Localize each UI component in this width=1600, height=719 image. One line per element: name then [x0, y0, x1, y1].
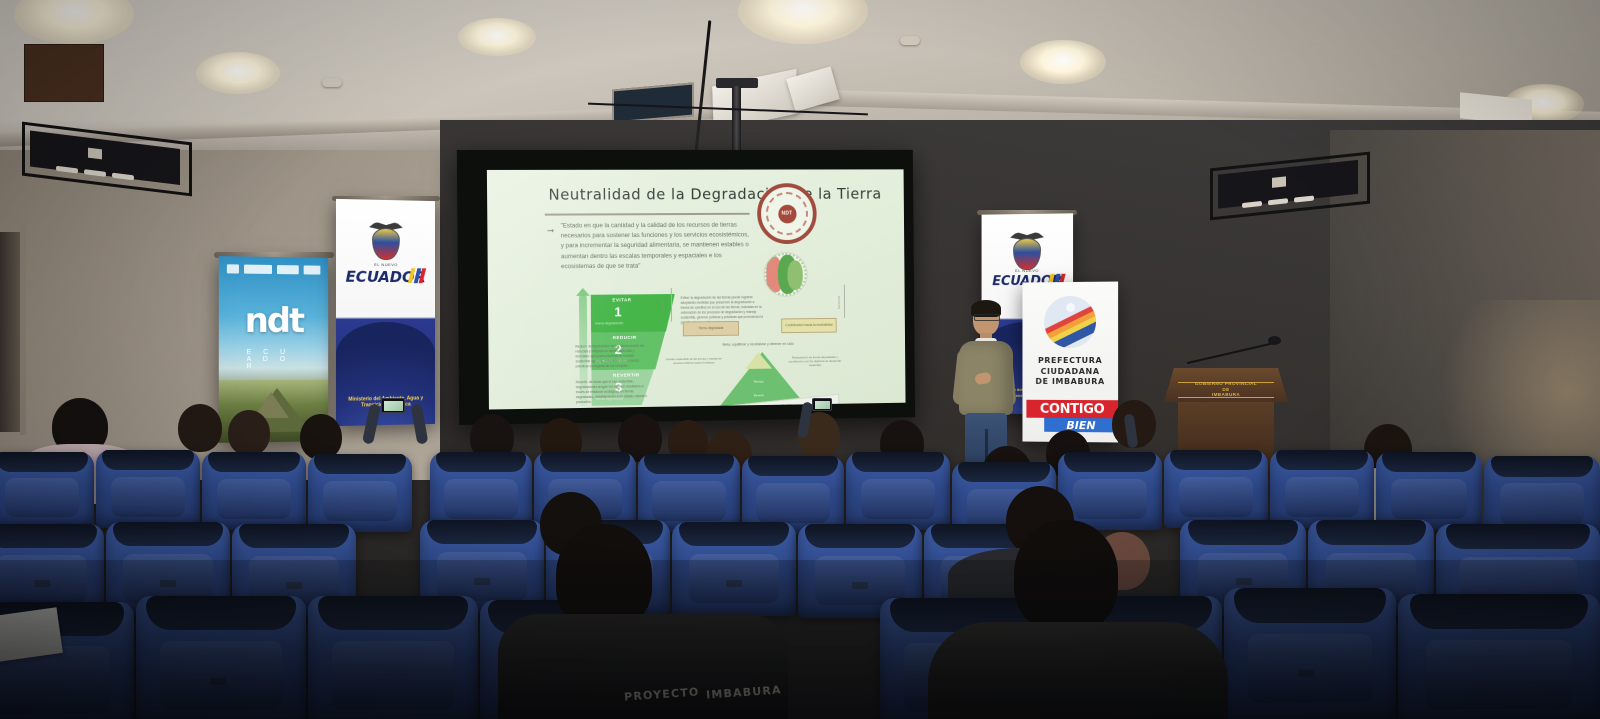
ceiling-light-5 — [1020, 40, 1106, 84]
seat[interactable] — [96, 450, 200, 528]
ecosystems-logo-icon — [763, 252, 807, 297]
seat[interactable] — [1164, 450, 1268, 528]
attendee-head-2 — [178, 404, 222, 452]
ndt-badge: NDT — [757, 183, 817, 244]
podium-plaque-line-3: IMBABURA — [1180, 392, 1272, 398]
slide-quote: "Estado en que la cantidad y la calidad … — [561, 221, 752, 273]
banner-ecuador-left: EL NUEVO ECUADOR Ministerio del Ambiente… — [336, 199, 435, 426]
auditorium-photo: Neutralidad de la Degradación de la Tier… — [0, 0, 1600, 719]
presentation-slide: Neutralidad de la Degradación de la Tier… — [487, 169, 906, 409]
ndt-logo-mark-3 — [277, 265, 298, 274]
slide-body-col-2: Reducir: la degradación de las tierras p… — [575, 344, 648, 369]
slogan-contigo: CONTIGO — [1026, 400, 1118, 419]
slide-body-col-3: Revertir: de modo que el uso sostenible,… — [576, 379, 649, 405]
ndt-logo-mark-4 — [303, 265, 320, 274]
smoke-detector-icon-2 — [900, 36, 920, 45]
tag-left: Tierra degradada — [683, 321, 739, 336]
ndt-banner-logo-row — [227, 264, 320, 274]
ceiling-light-2 — [196, 52, 280, 94]
prefectura-line-2: CIUDADANA — [1022, 367, 1118, 378]
slide-title-rule — [545, 213, 750, 215]
funnel-step-1-label: EVITAR — [612, 297, 631, 302]
slide-title: Neutralidad de la Degradación de la Tier… — [548, 185, 881, 204]
ceiling-vent — [612, 82, 694, 123]
podium-front-panel — [24, 44, 104, 102]
seat[interactable] — [1270, 450, 1374, 528]
prefectura-text: PREFECTURA CIUDADANA DE IMBABURA — [1022, 356, 1118, 388]
door-frame — [20, 225, 26, 435]
presenter-glasses-icon — [974, 314, 1000, 321]
bullet-arrow-icon: ➞ — [547, 226, 555, 237]
seat[interactable] — [430, 452, 532, 530]
smartphone-2[interactable] — [812, 398, 832, 411]
seat[interactable] — [1376, 452, 1482, 530]
funnel-step-2-label: REDUCIR — [613, 335, 637, 340]
coat-of-arms-shield-icon-right — [1013, 238, 1041, 270]
attendee-head-3 — [228, 410, 270, 456]
ndt-logo-mark-2 — [244, 265, 273, 274]
ceiling-light-3 — [458, 18, 536, 56]
podium-plaque: GOBIERNO PROVINCIAL DE IMBABURA — [1180, 381, 1272, 398]
funnel-step-1-number: 1 — [614, 305, 621, 318]
pyramid-tier-2: Revertir — [739, 393, 777, 398]
ndt-badge-core: NDT — [778, 204, 796, 223]
ndt-logo-mark-1 — [227, 264, 239, 273]
coat-of-arms-shield-icon — [372, 228, 400, 260]
smoke-detector-icon — [322, 78, 342, 87]
ecuador-right-eyebrow: EL NUEVO — [1015, 268, 1039, 273]
mid-caption: Meta: equilibrar y neutralizar y detener… — [681, 341, 835, 347]
axis-right — [844, 285, 845, 318]
funnel-step-1-sub: nueva degradación — [595, 321, 623, 325]
presenter — [953, 303, 1017, 463]
banner-prefectura-imbabura: PREFECTURA CIUDADANA DE IMBABURA CONTIGO… — [1022, 282, 1118, 443]
ndt-pyramid-cap — [745, 352, 772, 369]
ndt-wordmark: ndt — [245, 301, 303, 341]
seat[interactable] — [308, 454, 412, 532]
tag-right: Contribución hacia la neutralidad — [781, 318, 837, 333]
slogan-bien: BIEN — [1044, 418, 1118, 433]
projection-screen: Neutralidad de la Degradación de la Tier… — [457, 150, 915, 425]
screen-glare — [487, 169, 906, 409]
ecuador-left-eyebrow: EL NUEVO — [374, 262, 398, 267]
floor-shadow — [0, 560, 1600, 719]
prefectura-logo-icon — [1044, 296, 1096, 348]
axis-right-label: Ganancias — [837, 296, 841, 309]
prefectura-line-3: DE IMBABURA — [1022, 377, 1118, 388]
ndt-subtitle: E C U A D O R — [247, 349, 302, 370]
seat[interactable] — [0, 452, 94, 528]
seat[interactable] — [202, 452, 306, 530]
sub-caption-left: Gestión sostenible de las tierras y mane… — [666, 357, 722, 366]
axis-left-label: Pérdidas — [661, 300, 665, 311]
seat[interactable] — [846, 452, 950, 530]
smartphone-1[interactable] — [381, 398, 405, 413]
funnel-step-3-label: REVERTIR — [613, 372, 640, 377]
pyramid-tier-1: Reducir — [745, 379, 772, 383]
microphone-icon — [1268, 336, 1281, 345]
prefectura-line-1: PREFECTURA — [1022, 356, 1118, 367]
